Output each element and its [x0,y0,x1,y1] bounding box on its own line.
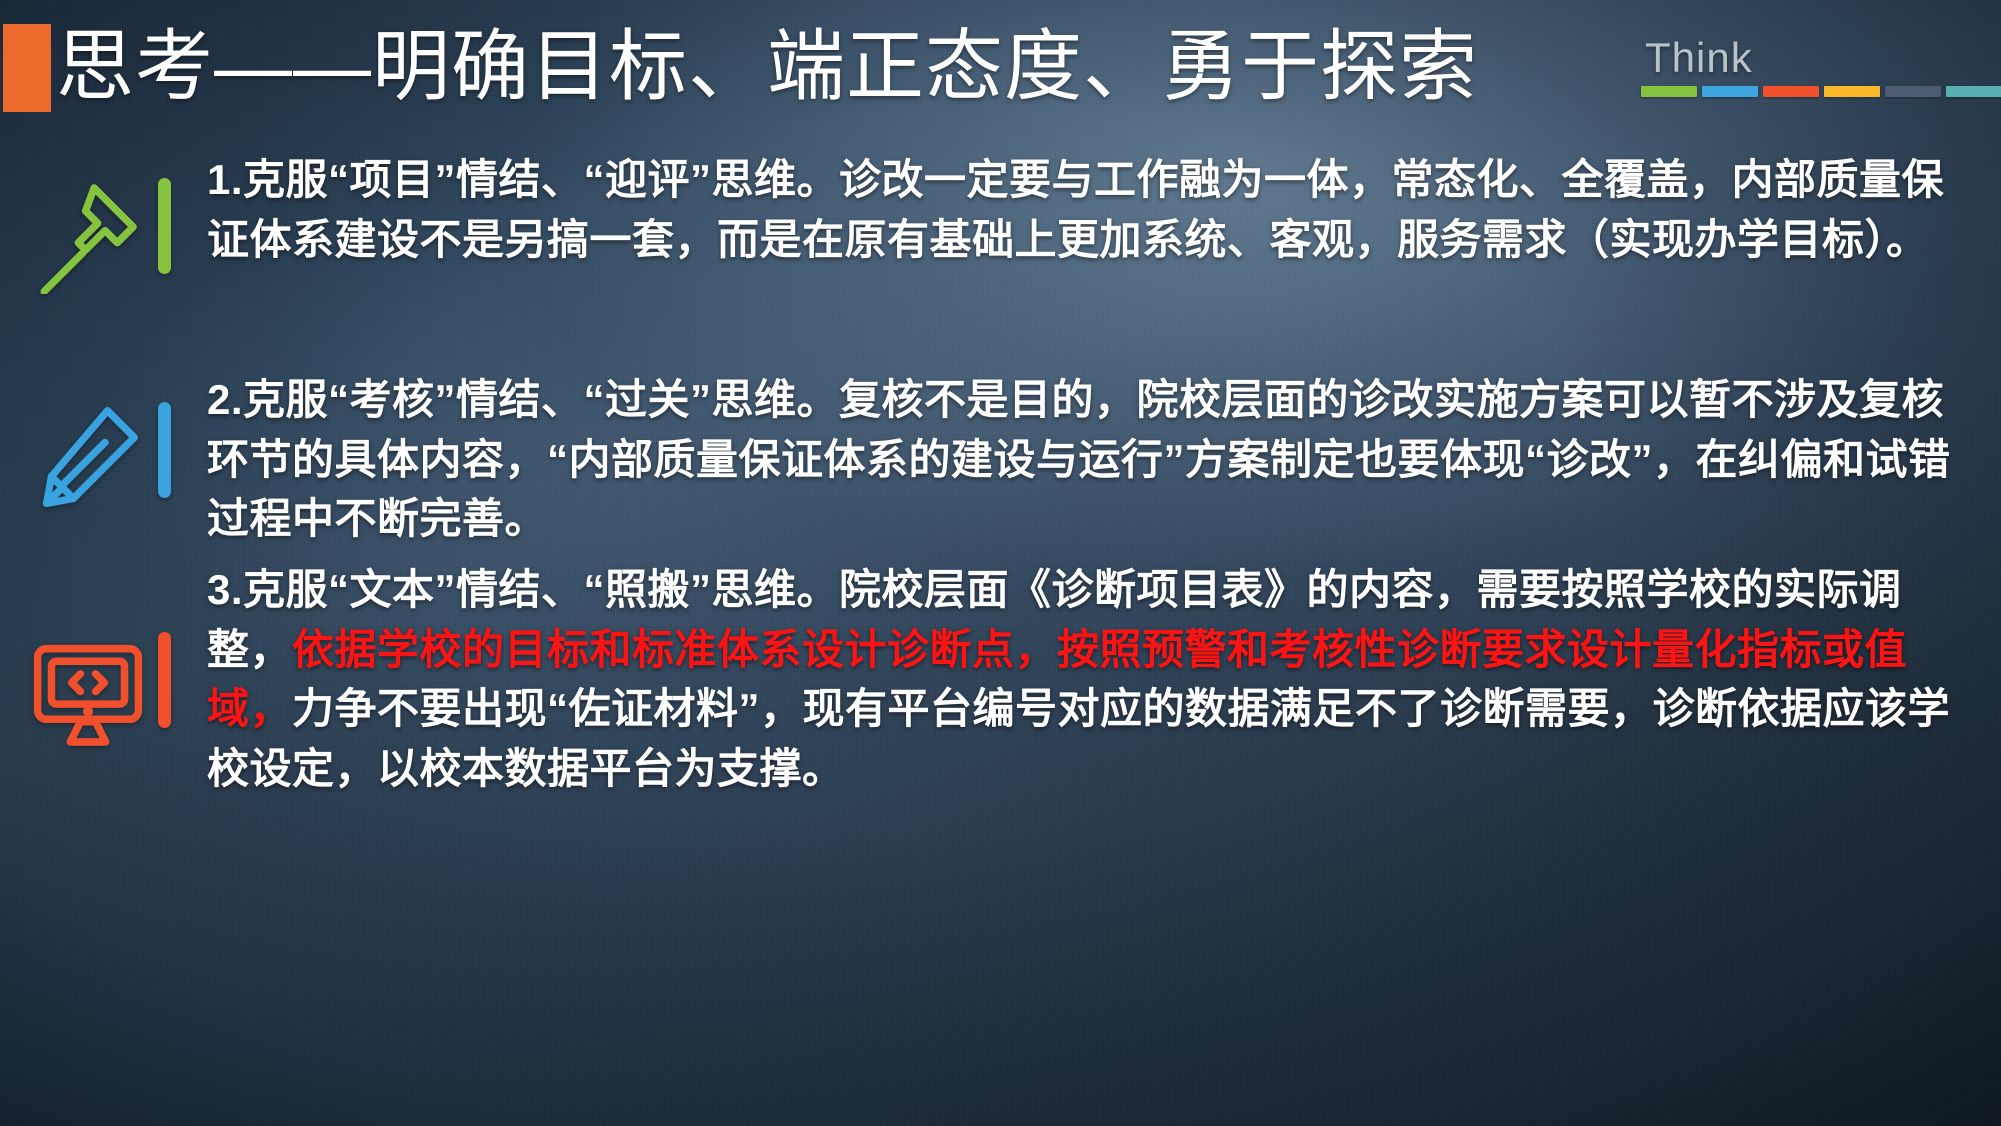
pushpin-icon [18,150,158,294]
pencil-icon [18,370,158,518]
brand-mark: Think [1567,28,1987,108]
brand-color-bars [1641,86,2001,97]
page-title: 思考——明确目标、端正态度、勇于探索 [56,8,1478,112]
brand-bar-slate [1885,86,1941,97]
bullet-block-1: 1.克服“项目”情结、“迎评”思维。诊改一定要与工作融为一体，常态化、全覆盖，内… [18,150,1978,294]
brand-bar-blue [1702,86,1758,97]
brand-bar-yellow [1824,86,1880,97]
bullet-text-3-post: 力争不要出现“佐证材料”，现有平台编号对应的数据满足不了诊断需要，诊断依据应该学… [207,685,1950,792]
bullet-text-1: 1.克服“项目”情结、“迎评”思维。诊改一定要与工作融为一体，常态化、全覆盖，内… [207,150,1978,269]
bullet-rule-2 [158,402,171,498]
slide-canvas: 思考——明确目标、端正态度、勇于探索 Think 1.克服“项目”情结、“迎评”… [0,0,2001,1126]
bullet-block-3: 3.克服“文本”情结、“照搬”思维。院校层面《诊断项目表》的内容，需要按照学校的… [18,560,1978,799]
bullet-text-3: 3.克服“文本”情结、“照搬”思维。院校层面《诊断项目表》的内容，需要按照学校的… [207,560,1978,799]
bullet-rule-3 [158,632,171,728]
bullet-rule-1 [158,178,171,274]
bullet-text-2: 2.克服“考核”情结、“过关”思维。复核不是目的，院校层面的诊改实施方案可以暂不… [207,370,1978,549]
brand-word: Think [1645,34,1753,82]
brand-bar-teal [1946,86,2001,97]
monitor-code-icon [18,560,158,752]
title-accent-bar [3,24,51,112]
brand-bar-green [1641,86,1697,97]
bullet-block-2: 2.克服“考核”情结、“过关”思维。复核不是目的，院校层面的诊改实施方案可以暂不… [18,370,1978,549]
brand-bar-red [1763,86,1819,97]
